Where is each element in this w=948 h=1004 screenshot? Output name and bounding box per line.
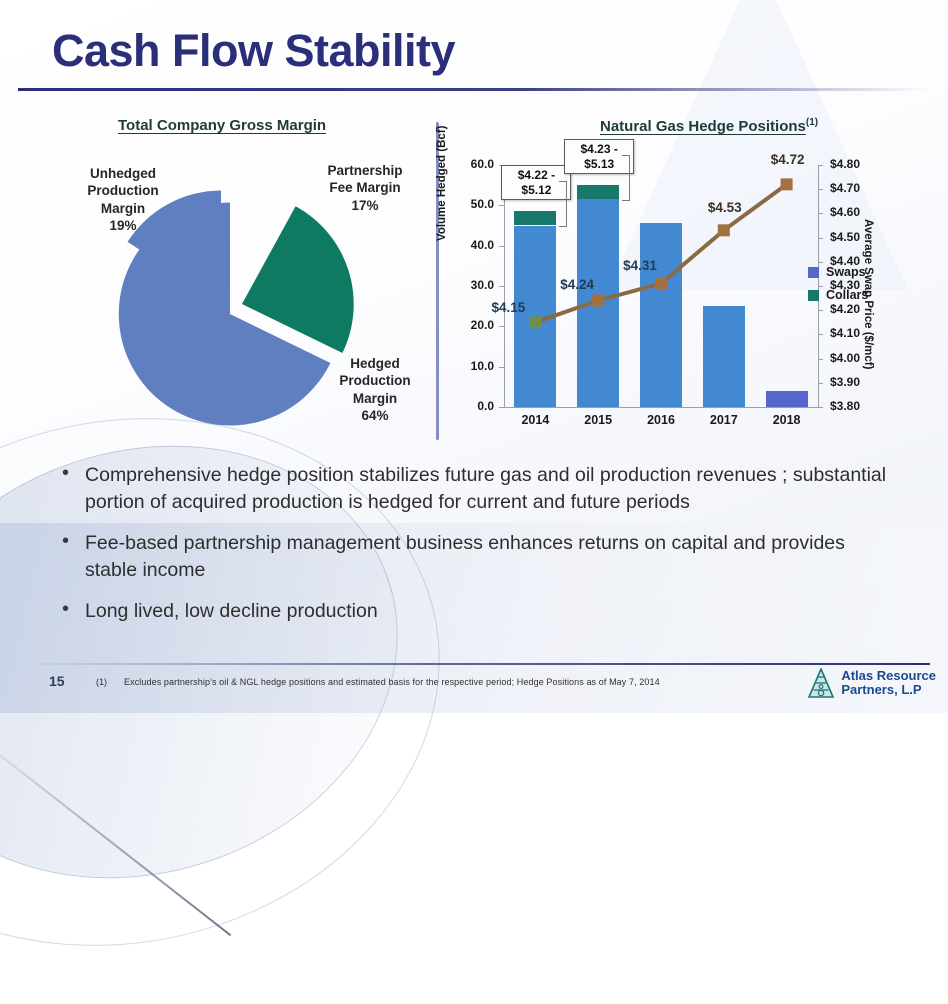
y-tick-label: 60.0 bbox=[448, 157, 494, 171]
pie-label-unhedged-l2: Production bbox=[87, 183, 158, 198]
collar-bracket-2015 bbox=[622, 155, 630, 201]
swap-price-marker-2015[interactable] bbox=[592, 295, 604, 307]
swap-price-label-2015: $4.24 bbox=[550, 277, 604, 292]
collar-callout-line2: $5.12 bbox=[505, 183, 567, 197]
pie-label-unhedged: Unhedged Production Margin 19% bbox=[64, 165, 182, 234]
logo-line-2: Partners, L.P bbox=[841, 683, 936, 697]
y-tick-label: 40.0 bbox=[448, 238, 494, 252]
swap-price-label-2014: $4.15 bbox=[481, 300, 535, 315]
bullet-dot-icon: • bbox=[62, 598, 69, 625]
company-logo: Atlas Resource Partners, L.P bbox=[807, 668, 936, 698]
footnote-text: Excludes partnership’s oil & NGL hedge p… bbox=[124, 677, 660, 687]
pie-label-hedged-l1: Hedged bbox=[350, 356, 400, 371]
pie-label-hedged: Hedged Production Margin 64% bbox=[320, 355, 430, 424]
pie-chart-heading: Total Company Gross Margin bbox=[118, 117, 326, 134]
pie-label-partnership-value: 17% bbox=[351, 198, 378, 213]
collar-bracket-2014 bbox=[559, 181, 567, 227]
pie-label-unhedged-value: 19% bbox=[109, 218, 136, 233]
bullet-text: Fee-based partnership management busines… bbox=[85, 530, 892, 584]
y-tick-label: 0.0 bbox=[448, 399, 494, 413]
footer-divider bbox=[18, 663, 930, 665]
footnote-superscript: (1) bbox=[806, 117, 818, 128]
slide-canvas: Cash Flow Stability Total Company Gross … bbox=[0, 0, 948, 713]
bullet-list: •Comprehensive hedge position stabilizes… bbox=[62, 462, 892, 639]
swap-price-label-2017: $4.53 bbox=[698, 200, 752, 215]
y-tick-label: 10.0 bbox=[448, 359, 494, 373]
y-axis-title: Volume Hedged (Bcf) bbox=[436, 126, 448, 241]
y-tick-label: 50.0 bbox=[448, 197, 494, 211]
y-tick-label: 20.0 bbox=[448, 318, 494, 332]
y2-tick-label: $3.90 bbox=[830, 375, 882, 389]
pie-label-hedged-l3: Margin bbox=[353, 391, 397, 406]
legend-label: Collars bbox=[826, 288, 868, 302]
swap-price-label-2016: $4.31 bbox=[613, 258, 667, 273]
y2-tick-label: $4.70 bbox=[830, 181, 882, 195]
legend-swatch-icon bbox=[808, 290, 819, 301]
swap-price-label-2018: $4.72 bbox=[761, 152, 815, 167]
chart-legend: SwapsCollars bbox=[808, 265, 868, 311]
x-label-2017: 2017 bbox=[694, 413, 754, 427]
page-title: Cash Flow Stability bbox=[52, 28, 455, 73]
swap-price-marker-2014[interactable] bbox=[529, 316, 541, 328]
swap-price-marker-2016[interactable] bbox=[655, 278, 667, 290]
x-label-2014: 2014 bbox=[505, 413, 565, 427]
legend-swatch-icon bbox=[808, 267, 819, 278]
hedge-positions-chart: Volume Hedged (Bcf) Average Swap Price (… bbox=[462, 145, 938, 445]
bullet-item-3: •Long lived, low decline production bbox=[62, 598, 892, 625]
bar-chart-heading: Natural Gas Hedge Positions(1) bbox=[600, 117, 818, 135]
y2-tick-label: $4.60 bbox=[830, 205, 882, 219]
bullet-text: Comprehensive hedge position stabilizes … bbox=[85, 462, 892, 516]
bullet-item-1: •Comprehensive hedge position stabilizes… bbox=[62, 462, 892, 516]
legend-label: Swaps bbox=[826, 265, 866, 279]
swap-price-marker-2017[interactable] bbox=[718, 224, 730, 236]
y2-tick-label: $4.80 bbox=[830, 157, 882, 171]
bar-chart-heading-text: Natural Gas Hedge Positions bbox=[600, 118, 806, 135]
bullet-dot-icon: • bbox=[62, 462, 69, 516]
logo-line-1: Atlas Resource bbox=[841, 668, 936, 683]
y2-tick-label: $4.00 bbox=[830, 351, 882, 365]
legend-item-collars[interactable]: Collars bbox=[808, 288, 868, 302]
pie-label-partnership-l1: Partnership bbox=[327, 163, 402, 178]
footnote-marker: (1) bbox=[96, 677, 107, 687]
pie-label-partnership-l2: Fee Margin bbox=[329, 180, 400, 195]
bullet-item-2: •Fee-based partnership management busine… bbox=[62, 530, 892, 584]
swap-price-marker-2018[interactable] bbox=[781, 178, 793, 190]
derrick-icon bbox=[807, 668, 835, 698]
pie-label-unhedged-l1: Unhedged bbox=[90, 166, 156, 181]
y2-tick-label: $4.50 bbox=[830, 230, 882, 244]
chart-plot-area: 0.010.020.030.040.050.060.0 $3.80$3.90$4… bbox=[504, 165, 818, 407]
y2-tick-label: $3.80 bbox=[830, 399, 882, 413]
collar-callout-line1: $4.23 - bbox=[568, 142, 630, 156]
legend-item-swaps[interactable]: Swaps bbox=[808, 265, 868, 279]
x-label-2018: 2018 bbox=[757, 413, 817, 427]
bullet-dot-icon: • bbox=[62, 530, 69, 584]
pie-label-hedged-l2: Production bbox=[339, 373, 410, 388]
pie-label-hedged-value: 64% bbox=[361, 408, 388, 423]
y2-tick-label: $4.10 bbox=[830, 326, 882, 340]
pie-label-partnership: Partnership Fee Margin 17% bbox=[305, 162, 425, 214]
y-tick-label: 30.0 bbox=[448, 278, 494, 292]
pie-chart: Unhedged Production Margin 19% Partnersh… bbox=[30, 150, 430, 450]
page-number: 15 bbox=[49, 673, 65, 689]
collar-callout-line2: $5.13 bbox=[568, 157, 630, 171]
logo-text: Atlas Resource Partners, L.P bbox=[841, 669, 936, 697]
x-label-2015: 2015 bbox=[568, 413, 628, 427]
collar-callout-line1: $4.22 - bbox=[505, 168, 567, 182]
pie-label-unhedged-l3: Margin bbox=[101, 201, 145, 216]
title-divider bbox=[18, 88, 930, 91]
bullet-text: Long lived, low decline production bbox=[85, 598, 378, 625]
x-label-2016: 2016 bbox=[631, 413, 691, 427]
